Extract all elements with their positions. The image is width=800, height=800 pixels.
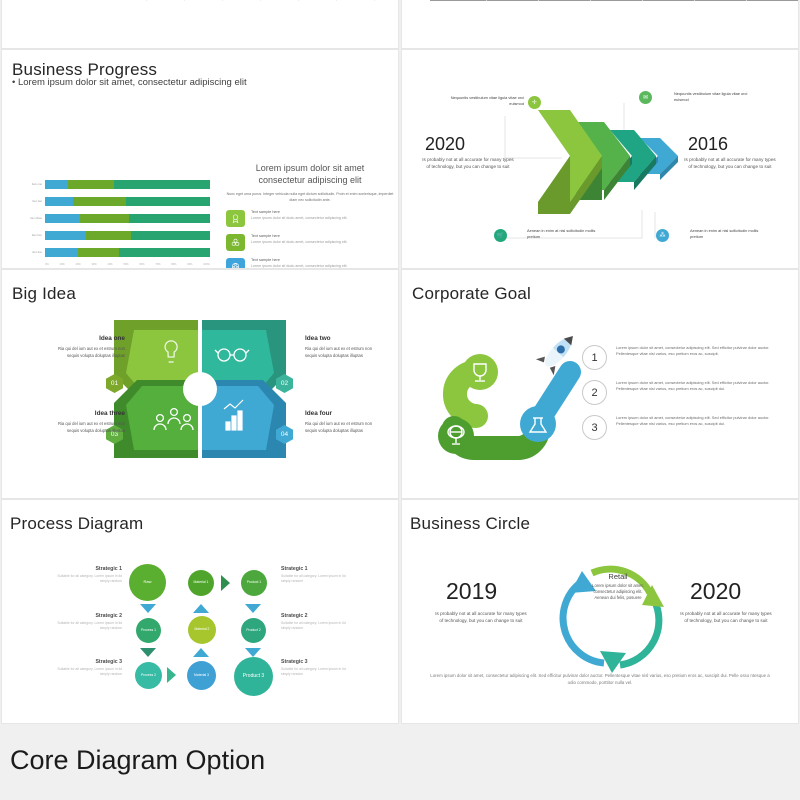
table-total-row: Total Row 10000 10000 10000 10000 10000 … (430, 0, 798, 1)
slide-table-right-partial[interactable]: Total Row 10000 10000 10000 10000 10000 … (402, 0, 798, 48)
chart-x-tick: 80% (171, 263, 176, 266)
callout-text-4: Aenean in enim at nisl sollicitudin moll… (690, 228, 770, 240)
chart-x-tick: 40% (107, 263, 112, 266)
slide-process-diagram[interactable]: Process Diagram Strategic 1 Suitable for… (2, 500, 398, 723)
medal-icon (226, 210, 245, 227)
chart-x-tick: 30% (91, 263, 96, 266)
chart-bar-row: Item five (20, 246, 210, 258)
idea-four-heading: Idea four (305, 409, 381, 419)
chart-x-tick: 60% (139, 263, 144, 266)
table-cell (299, 0, 337, 1)
list-item[interactable]: 3 Lorem ipsum dolor sit amet, consectetu… (582, 415, 782, 440)
progress-detail-panel: Lorem ipsum dolor sit amet consectetur a… (226, 162, 394, 268)
list-item[interactable]: Text sample here Lorem ipsum dolor sit d… (226, 258, 394, 268)
list-item[interactable]: Text sample here Lorem ipsum dolor sit d… (226, 210, 394, 227)
list-item[interactable]: Text sample here Lorem ipsum dolor sit d… (226, 234, 394, 251)
list-item-body: Lorem ipsum dolor sit dudu amet, consect… (251, 264, 347, 268)
slide-table-left-partial[interactable]: Edit Product (2, 0, 398, 48)
table-cell (185, 0, 223, 1)
chart-bar-row: Item four (20, 229, 210, 241)
chart-bar (45, 214, 210, 223)
strategic-body: Suitable for all category. Lorem ipsum i… (48, 621, 122, 631)
node-product-3[interactable]: Product 3 (234, 657, 273, 696)
year-left-paragraph: Is probably not at all accurate for many… (435, 610, 527, 624)
chart-x-tick: 90% (187, 263, 192, 266)
chart-bar-row: Item one (20, 178, 210, 190)
arrow-down-icon (245, 604, 261, 613)
chart-bar-row: Item two (20, 195, 210, 207)
chart-x-tick: 100% (203, 263, 210, 266)
arrow-up-icon (193, 604, 209, 613)
table-total-cell: 10000 (591, 0, 643, 1)
strategic-left-1: Strategic 1 Suitable for all category. L… (48, 566, 122, 584)
chart-y-tick: Item one (20, 183, 45, 186)
strategic-body: Suitable for all category. Lorem ipsum i… (281, 621, 355, 631)
chart-x-tick: 70% (155, 263, 160, 266)
node-raw[interactable]: Raw (129, 564, 166, 601)
cart-icon[interactable]: 🛒 (494, 229, 507, 242)
slide-deck-page: Edit Product Total Row 10000 10000 10000… (0, 0, 800, 800)
chart-y-tick: Item two (20, 200, 45, 203)
strategic-heading: Strategic 1 (48, 566, 122, 572)
table-total-cell: 10000 (747, 0, 798, 1)
slide-arrow-timeline[interactable]: 2020 Is probably not at all accurate for… (402, 50, 798, 268)
node-material-3[interactable]: Material 3 (187, 661, 216, 690)
panel-heading-line1: Lorem ipsum dolor sit amet (226, 162, 394, 174)
share-icon[interactable]: ✛ (528, 96, 541, 109)
chart-bar (45, 197, 210, 206)
chart-y-tick: Item five (20, 251, 45, 254)
slide-big-idea[interactable]: Big Idea (2, 270, 398, 498)
node-material-1[interactable]: Material 1 (188, 570, 214, 596)
table-ghost-row: Edit Product (87, 0, 375, 1)
strategic-body: Suitable for all category. Lorem ipsum i… (48, 574, 122, 584)
chart-x-tick: 50% (123, 263, 128, 266)
year-right: 2016 (688, 134, 728, 155)
table-cell (261, 0, 299, 1)
list-item[interactable]: 2 Lorem ipsum dolor sit amet, consectetu… (582, 380, 782, 405)
goal-list: 1 Lorem ipsum dolor sit amet, consectetu… (582, 345, 782, 450)
circle-center-block: Retail Lorem ipsum dolor sit amet, conse… (587, 572, 649, 601)
callout-text-3: Aenean in enim at nisl sollicitudin moll… (527, 228, 607, 240)
recycle-icon (226, 234, 245, 251)
stacked-bar-chart: Item one Item two Item three (20, 178, 210, 268)
chart-y-tick: Item four (20, 234, 45, 237)
goal-body: Lorem ipsum dolor sit amet, consectetur … (616, 415, 782, 428)
table-total-cell: 10000 (695, 0, 747, 1)
node-process-1[interactable]: Process 1 (136, 618, 161, 643)
circle-center-title: Retail (587, 572, 649, 581)
arrow-down-icon (140, 648, 156, 657)
list-item-body: Lorem ipsum dolor sit dudu amet, consect… (251, 240, 347, 245)
chart-x-tick: 0% (45, 263, 49, 266)
strategic-left-3: Strategic 3 Suitable for all category. L… (48, 659, 122, 677)
list-item-heading: Text sample here (251, 234, 347, 238)
idea-one-body: Ria qui del ium aut ex et estrum non seq… (58, 346, 125, 358)
connection-icon[interactable]: ⁂ (656, 229, 669, 242)
goal-body: Lorem ipsum dolor sit amet, consectetur … (616, 380, 782, 393)
callout-text-1: Nequuntis vestibulum vitae ligula vitae … (444, 95, 524, 107)
strategic-body: Suitable for all category. Lorem ipsum i… (48, 667, 122, 677)
arrow-down-icon (140, 604, 156, 613)
goal-number: 3 (582, 415, 607, 440)
year-left: 2019 (446, 578, 497, 605)
strategic-heading: Strategic 2 (281, 613, 355, 619)
page-title: Business Circle (410, 514, 530, 534)
chart-y-tick: Item three (20, 217, 45, 220)
table-total-cell: 10000 (643, 0, 695, 1)
idea-three-heading: Idea three (49, 409, 125, 419)
idea-three-body: Ria qui del ium aut ex et estrum non seq… (58, 421, 125, 433)
slide-corporate-goal[interactable]: Corporate Goal (402, 270, 798, 498)
subtitle-bullet: • Lorem ipsum dolor sit amet, consectetu… (12, 77, 247, 88)
strategic-heading: Strategic 2 (48, 613, 122, 619)
slide-business-circle[interactable]: Business Circle Retail Lorem ipsum dolor… (402, 500, 798, 723)
year-left: 2020 (425, 134, 465, 155)
chart-x-tick: 20% (75, 263, 80, 266)
table-cell (147, 0, 185, 1)
table-cell-label: Edit Product (87, 0, 147, 1)
strategic-right-2: Strategic 2 Suitable for all category. L… (281, 613, 355, 631)
goal-number: 2 (582, 380, 607, 405)
arrow-right-icon (221, 575, 230, 591)
table-cell (223, 0, 261, 1)
list-item[interactable]: 1 Lorem ipsum dolor sit amet, consectetu… (582, 345, 782, 370)
idea-one-block: Idea one Ria qui del ium aut ex et estru… (49, 334, 125, 360)
page-title: Corporate Goal (412, 284, 531, 304)
strategic-heading: Strategic 3 (281, 659, 355, 665)
panel-heading-line2: consectetur adipiscing elit (226, 174, 394, 186)
strategic-heading: Strategic 3 (48, 659, 122, 665)
strategic-right-3: Strategic 3 Suitable for all category. L… (281, 659, 355, 677)
circle-footer-paragraph: Lorem ipsum dolor sit amet, consectetur … (430, 672, 770, 687)
hexagon-quadrant-graphic (2, 270, 398, 498)
panel-paragraph: Nunc eget urna purus. Integer vehicula n… (226, 192, 394, 203)
chart-x-tick: 10% (60, 263, 65, 266)
idea-two-block: Idea two Ria qui del ium aut ex et estru… (305, 334, 381, 360)
strategic-left-2: Strategic 2 Suitable for all category. L… (48, 613, 122, 631)
table-cell (337, 0, 375, 1)
list-item-heading: Text sample here (251, 210, 347, 214)
arrow-down-icon (245, 648, 261, 657)
node-product-1[interactable]: Product 1 (241, 570, 267, 596)
strategic-heading: Strategic 1 (281, 566, 355, 572)
year-right-paragraph: Is probably not at all accurate for many… (680, 610, 772, 624)
chart-bar (45, 231, 210, 240)
idea-two-body: Ria qui del ium aut ex et estrum non seq… (305, 346, 372, 358)
circle-center-body: Lorem ipsum dolor sit amet, consectetur … (587, 583, 649, 601)
strategic-body: Suitable for all category. Lorem ipsum i… (281, 574, 355, 584)
list-item-heading: Text sample here (251, 258, 347, 262)
arrow-up-icon (193, 648, 209, 657)
year-right: 2020 (690, 578, 741, 605)
callout-text-2: Nequuntis vestibulum vitae ligula vitae … (674, 91, 754, 103)
idea-one-heading: Idea one (49, 334, 125, 344)
idea-two-heading: Idea two (305, 334, 381, 344)
node-material-2[interactable]: Material 2 (188, 616, 216, 644)
goal-body: Lorem ipsum dolor sit amet, consectetur … (616, 345, 782, 358)
strategic-body: Suitable for all category. Lorem ipsum i… (281, 667, 355, 677)
network-icon (226, 258, 245, 268)
chart-bar (45, 180, 210, 189)
strategic-right-1: Strategic 1 Suitable for all category. L… (281, 566, 355, 584)
slide-business-progress[interactable]: Business Progress • Lorem ipsum dolor si… (2, 50, 398, 268)
idea-four-block: Idea four Ria qui del ium aut ex et estr… (305, 409, 381, 435)
page-title: Process Diagram (10, 514, 143, 534)
chart-bar (45, 248, 210, 257)
table-total-label: Total Row (430, 0, 487, 1)
deck-bottom-title: Core Diagram Option (10, 745, 265, 776)
node-product-2[interactable]: Product 2 (241, 618, 266, 643)
idea-three-block: Idea three Ria qui del ium aut ex et est… (49, 409, 125, 435)
year-right-paragraph: Is probably not at all accurate for many… (684, 156, 776, 170)
table-total-cell: 10000 (539, 0, 591, 1)
table-total-cell: 10000 (487, 0, 539, 1)
arrow-right-icon (167, 667, 176, 683)
year-left-paragraph: Is probably not at all accurate for many… (422, 156, 514, 170)
chart-x-axis: 0% 10% 20% 30% 40% 50% 60% 70% 80% 90% 1… (45, 263, 210, 266)
goal-number: 1 (582, 345, 607, 370)
chart-bar-row: Item three (20, 212, 210, 224)
list-item-body: Lorem ipsum dolor sit dudu amet, consect… (251, 216, 347, 221)
node-process-2[interactable]: Process 2 (135, 662, 162, 689)
chat-icon[interactable]: ✉ (639, 91, 652, 104)
idea-four-body: Ria qui del ium aut ex et estrum non seq… (305, 421, 372, 433)
